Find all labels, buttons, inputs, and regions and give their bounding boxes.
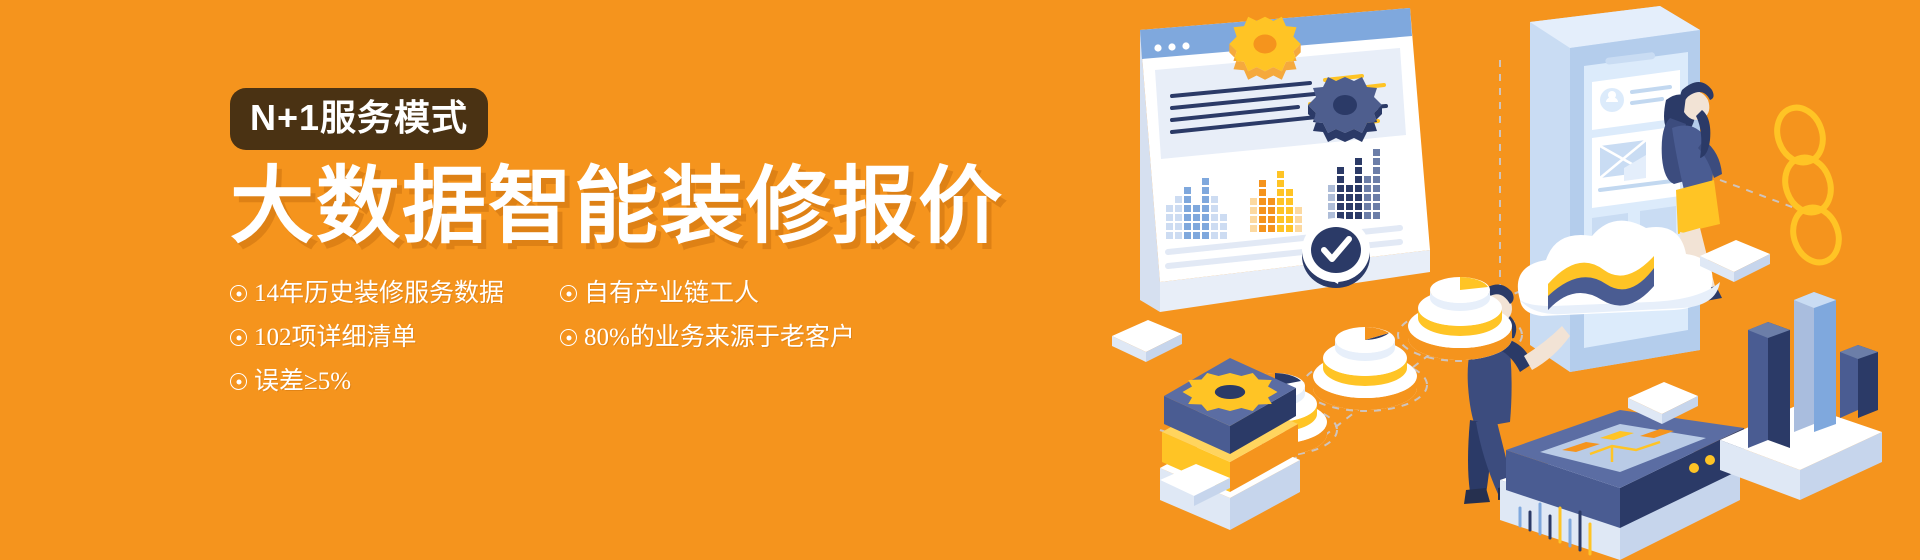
- circled-dot-icon: [560, 329, 577, 346]
- smartphone-screen: [1530, 6, 1700, 372]
- feature-bullet-4-label: 80%的业务来源于老客户: [584, 325, 855, 350]
- banner-text-block: N+1服务模式 大数据智能装修报价 14年历史装修服务数据 自有产业链工人 10…: [230, 88, 990, 404]
- floating-tile-1: [1112, 320, 1182, 362]
- feature-bullet-4: 80%的业务来源于老客户: [560, 316, 990, 360]
- feature-bullet-spacer: [560, 360, 990, 404]
- feature-bullet-5-label: 误差≥5%: [254, 369, 351, 394]
- feature-bullet-5: 误差≥5%: [230, 360, 550, 404]
- circled-dot-icon: [560, 285, 577, 302]
- server-device: [1500, 410, 1744, 560]
- circled-dot-icon: [230, 373, 247, 390]
- feature-bullet-1-label: 14年历史装修服务数据: [254, 281, 504, 306]
- circled-dot-icon: [230, 329, 247, 346]
- feature-bullet-1: 14年历史装修服务数据: [230, 272, 550, 316]
- feature-bullet-list: 14年历史装修服务数据 自有产业链工人 102项详细清单 80%的业务来源于老客…: [230, 272, 990, 404]
- promo-banner: N+1服务模式 大数据智能装修报价 14年历史装修服务数据 自有产业链工人 10…: [0, 0, 1920, 560]
- database-stack: [1160, 358, 1300, 530]
- feature-bullet-2: 自有产业链工人: [560, 272, 990, 316]
- feature-bullet-3-label: 102项详细清单: [254, 325, 417, 350]
- check-badge-icon: [1302, 218, 1370, 288]
- circled-dot-icon: [230, 285, 247, 302]
- bar-column-group: [1720, 292, 1882, 500]
- banner-headline: 大数据智能装修报价: [230, 164, 990, 250]
- service-model-badge: N+1服务模式: [230, 88, 488, 150]
- feature-bullet-2-label: 自有产业链工人: [584, 281, 759, 306]
- feature-bullet-3: 102项详细清单: [230, 316, 550, 360]
- ring-links-icon: [1770, 101, 1846, 269]
- isometric-big-data-illustration: [1100, 0, 1920, 560]
